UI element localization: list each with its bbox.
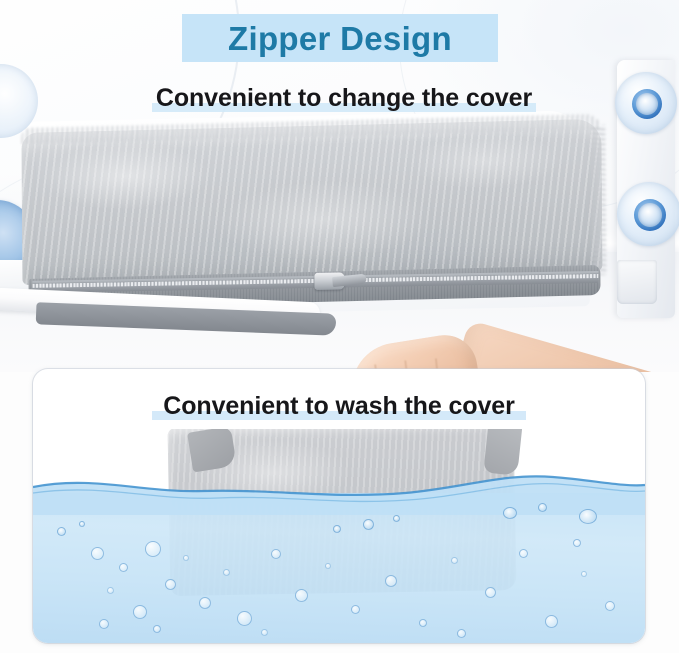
water-splash (393, 515, 400, 522)
suction-cup-core (638, 203, 662, 227)
water-splash (333, 525, 341, 533)
air-bubble (119, 563, 128, 572)
air-bubble (237, 611, 252, 626)
suction-cup-unit-right (613, 60, 679, 318)
air-bubble (419, 619, 427, 627)
product-photo-change-cover (0, 112, 679, 372)
air-bubble (457, 629, 466, 638)
grey-plush-cushion (21, 119, 602, 313)
air-bubble (451, 557, 458, 564)
air-bubble (573, 539, 581, 547)
air-bubble (605, 601, 615, 611)
fur-edge (591, 125, 606, 275)
top-subtitle: Convenient to change the cover (156, 86, 532, 111)
air-bubble (223, 569, 230, 576)
product-photo-wash-cover (33, 429, 645, 643)
air-bubble (325, 563, 331, 569)
top-panel: Zipper Design Convenient to change the c… (0, 0, 679, 372)
air-bubble (295, 589, 308, 602)
air-bubble (145, 541, 161, 557)
air-bubble (153, 625, 161, 633)
air-bubble (199, 597, 211, 609)
air-bubble (545, 615, 558, 628)
air-bubble (107, 587, 114, 594)
bottom-panel-card: Convenient to wash the cover (33, 369, 645, 643)
cushion-face (21, 119, 602, 285)
air-bubble (183, 555, 189, 561)
page-title: Zipper Design (228, 22, 452, 55)
air-bubble (271, 549, 281, 559)
water-splash (579, 509, 597, 524)
page-title-band: Zipper Design (182, 14, 498, 62)
air-bubble (133, 605, 147, 619)
air-bubble (91, 547, 104, 560)
bottom-subtitle-wrap: Convenient to wash the cover (152, 392, 526, 420)
air-bubble (261, 629, 268, 636)
fur-texture (21, 119, 602, 285)
water-splash (79, 521, 85, 527)
suction-bracket (617, 260, 657, 304)
air-bubble (351, 605, 360, 614)
water-splash (363, 519, 374, 530)
water-splash (503, 507, 517, 519)
air-bubble (165, 579, 176, 590)
infographic-page: Zipper Design Convenient to change the c… (0, 0, 679, 653)
air-bubble (99, 619, 109, 629)
air-bubble (385, 575, 397, 587)
suction-cup-core (636, 93, 658, 115)
air-bubble (519, 549, 528, 558)
fur-shading (21, 119, 602, 285)
top-subtitle-wrap: Convenient to change the cover (152, 84, 536, 112)
water-splash (538, 503, 547, 512)
hand-pulling-zipper (352, 340, 679, 372)
air-bubble (485, 587, 496, 598)
bottom-subtitle: Convenient to wash the cover (163, 394, 514, 419)
water-surface-wave (33, 471, 645, 515)
air-bubble (581, 571, 587, 577)
water-splash (57, 527, 66, 536)
